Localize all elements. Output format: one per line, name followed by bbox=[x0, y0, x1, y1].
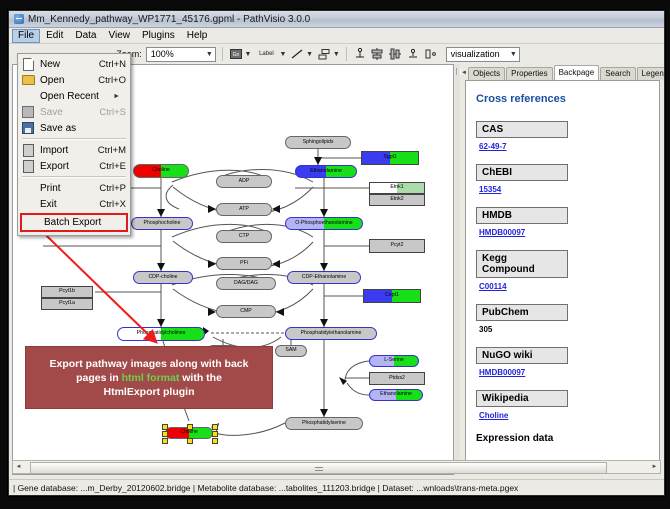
menu-separator bbox=[22, 176, 126, 178]
file-menu-popup[interactable]: NewCtrl+NOpenCtrl+OOpen Recent►SaveCtrl+… bbox=[17, 53, 131, 236]
app-icon bbox=[14, 14, 24, 24]
annotation-callout: Export pathway images along with back pa… bbox=[25, 346, 273, 409]
callout-line-1: Export pathway images along with back bbox=[50, 357, 249, 371]
callout-line-2-a: pages in bbox=[76, 372, 122, 384]
pathway-node-metabolite[interactable]: Phosphatidylserine bbox=[285, 417, 363, 430]
geneproduct-dropdown-icon[interactable]: ▼ bbox=[244, 51, 251, 58]
menu-item-label: Save bbox=[36, 107, 93, 118]
menu-item-accelerator: Ctrl+S bbox=[93, 107, 126, 118]
cross-reference-list: CAS62-49-7ChEBI15354HMDBHMDB00097Kegg Co… bbox=[476, 121, 649, 420]
shape-dropdown-icon[interactable]: ▼ bbox=[333, 51, 340, 58]
xref-source-hmdb: HMDB bbox=[476, 207, 568, 224]
menu-item-icon bbox=[20, 182, 36, 195]
status-text: | Gene database: ...m_Derby_20120602.bri… bbox=[13, 483, 518, 493]
chevron-right-icon: ► bbox=[113, 93, 120, 100]
selection-handle[interactable] bbox=[162, 424, 168, 430]
file-menu-item-import[interactable]: ImportCtrl+M bbox=[18, 142, 130, 158]
menu-bar: File Edit Data View Plugins Help bbox=[9, 28, 664, 44]
selection-handle[interactable] bbox=[212, 424, 218, 430]
shape-tool-icon[interactable] bbox=[317, 47, 331, 62]
label-tool[interactable]: Label bbox=[255, 47, 277, 62]
tab-search[interactable]: Search bbox=[600, 67, 635, 80]
menu-item-label: New bbox=[36, 59, 93, 70]
tab-objects[interactable]: Objects bbox=[468, 67, 505, 80]
menu-item-label: Batch Export bbox=[40, 217, 116, 228]
pathway-node-gene[interactable]: Pcyt2 bbox=[369, 239, 425, 253]
toolbar-separator-2 bbox=[346, 47, 347, 61]
menu-item-icon bbox=[20, 198, 36, 211]
new-file-icon bbox=[23, 58, 34, 71]
scroll-right-arrow-icon[interactable]: ► bbox=[649, 464, 660, 470]
menu-item-icon bbox=[20, 58, 36, 71]
zoom-value: 100% bbox=[151, 49, 174, 59]
scrollbar-track[interactable] bbox=[24, 462, 649, 472]
pathway-node-gene[interactable]: Etnk2 bbox=[369, 194, 425, 206]
visualization-value: visualization bbox=[451, 49, 500, 59]
tab-scroll-left-icon[interactable]: ◄ bbox=[461, 67, 467, 78]
file-menu-item-save: SaveCtrl+S bbox=[18, 104, 130, 120]
save-icon bbox=[22, 106, 34, 118]
horizontal-scrollbar[interactable]: ◄ ► bbox=[12, 460, 661, 474]
pathway-node-metabolite[interactable]: ADP bbox=[216, 175, 272, 188]
file-menu-item-batch-export[interactable]: Batch Export bbox=[20, 213, 128, 232]
pathway-node-metabolite[interactable]: CDP-Ethanolamine bbox=[287, 271, 361, 284]
group-glyph bbox=[425, 48, 437, 60]
xref-source-wikipedia: Wikipedia bbox=[476, 390, 568, 407]
pathway-node-metabolite[interactable]: O-Phosphoethanolamine bbox=[285, 217, 363, 230]
xref-value-pubchem: 305 bbox=[479, 325, 649, 334]
anchor-icon[interactable] bbox=[353, 47, 367, 62]
file-menu-item-open[interactable]: OpenCtrl+O bbox=[18, 72, 130, 88]
stack-glyph bbox=[407, 48, 419, 60]
menu-edit[interactable]: Edit bbox=[40, 29, 69, 43]
pathway-node-metabolite[interactable]: Ethanolamine bbox=[369, 389, 423, 401]
xref-link[interactable]: Choline bbox=[479, 411, 508, 420]
title-bar: Mm_Kennedy_pathway_WP1771_45176.gpml - P… bbox=[9, 11, 664, 28]
xref-value-hmdb[interactable]: HMDB00097 bbox=[479, 228, 649, 237]
menu-data[interactable]: Data bbox=[69, 29, 102, 43]
menu-item-label: Save as bbox=[36, 123, 120, 134]
selection-handle[interactable] bbox=[162, 438, 168, 444]
callout-line-3: HtmlExport plugin bbox=[104, 385, 195, 399]
file-menu-item-export[interactable]: ExportCtrl+E bbox=[18, 158, 130, 174]
toolbar-separator bbox=[222, 47, 223, 61]
pathway-node-gene[interactable]: Cept1 bbox=[363, 289, 421, 303]
pathway-node-metabolite[interactable]: L-Serine bbox=[369, 355, 419, 367]
align-horizontal-icon[interactable] bbox=[371, 47, 385, 62]
menu-item-icon bbox=[20, 144, 36, 157]
xref-value-cas[interactable]: 62-49-7 bbox=[479, 142, 649, 151]
expression-data-heading: Expression data bbox=[476, 433, 649, 444]
chevron-down-icon-visualization: ▼ bbox=[510, 51, 517, 58]
menu-view[interactable]: View bbox=[102, 29, 136, 43]
pathway-node-metabolite[interactable]: SAM bbox=[275, 345, 307, 357]
pathway-node-gene[interactable]: Sgpl1 bbox=[361, 151, 419, 165]
menu-item-accelerator: Ctrl+P bbox=[93, 183, 126, 194]
xref-source-cas: CAS bbox=[476, 121, 568, 138]
menu-help[interactable]: Help bbox=[181, 29, 214, 43]
menu-separator bbox=[22, 138, 126, 140]
menu-item-label: Open Recent bbox=[36, 91, 113, 102]
xref-value-chebi[interactable]: 15354 bbox=[479, 185, 649, 194]
menu-item-accelerator: Ctrl+O bbox=[92, 75, 126, 86]
xref-source-kegg-compound: Kegg Compound bbox=[476, 250, 568, 278]
file-menu-item-save-as[interactable]: Save as bbox=[18, 120, 130, 136]
pathway-node-metabolite[interactable]: PFi bbox=[216, 257, 272, 270]
menu-item-label: Open bbox=[36, 75, 92, 86]
menu-item-icon bbox=[20, 90, 36, 103]
callout-highlight: html format bbox=[122, 372, 180, 384]
menu-item-icon bbox=[24, 216, 40, 229]
pathway-node-metabolite[interactable]: Sphingolipids bbox=[285, 136, 351, 149]
callout-line-2-b: with the bbox=[179, 372, 222, 384]
status-bar: | Gene database: ...m_Derby_20120602.bri… bbox=[9, 479, 664, 495]
file-menu-item-print[interactable]: PrintCtrl+P bbox=[18, 180, 130, 196]
tab-backpage[interactable]: Backpage bbox=[554, 65, 600, 80]
visualization-combobox[interactable]: visualization ▼ bbox=[446, 47, 520, 62]
align-vertical-icon[interactable] bbox=[388, 47, 402, 62]
pathway-node-metabolite[interactable]: Phosphatidylethanolamine bbox=[285, 327, 377, 340]
import-icon bbox=[23, 144, 34, 157]
xref-value-kegg-compound[interactable]: C00114 bbox=[479, 282, 649, 291]
menu-plugins[interactable]: Plugins bbox=[136, 29, 181, 43]
file-menu-item-exit[interactable]: ExitCtrl+X bbox=[18, 196, 130, 212]
selection-handle[interactable] bbox=[212, 438, 218, 444]
screen: Mm_Kennedy_pathway_WP1771_45176.gpml - P… bbox=[0, 0, 670, 509]
pathway-node-metabolite[interactable]: DAG/DAG bbox=[216, 277, 276, 290]
side-panel-tabs: ◄ Objects Properties Backpage Search Leg… bbox=[461, 66, 661, 80]
pathway-node-metabolite[interactable]: Ethanolamine bbox=[295, 165, 357, 178]
file-menu-item-open-recent[interactable]: Open Recent► bbox=[18, 88, 130, 104]
pathway-node-metabolite[interactable]: ATP bbox=[216, 203, 272, 216]
pathway-node-metabolite[interactable]: CMP bbox=[216, 305, 276, 318]
menu-item-icon bbox=[20, 106, 36, 119]
geneproduct-tool-icon[interactable]: Gn bbox=[229, 47, 243, 62]
label-dropdown-icon[interactable]: ▼ bbox=[279, 51, 286, 58]
selection-handle[interactable] bbox=[187, 424, 193, 430]
align-h-glyph bbox=[371, 48, 383, 60]
pathway-node-gene[interactable]: Pcyt1a bbox=[41, 298, 93, 310]
zoom-combobox[interactable]: 100% ▼ bbox=[146, 47, 216, 62]
menu-item-icon bbox=[20, 160, 36, 173]
tab-properties[interactable]: Properties bbox=[506, 67, 552, 80]
backpage-panel[interactable]: Cross references CAS62-49-7ChEBI15354HMD… bbox=[465, 80, 660, 474]
line-glyph bbox=[291, 49, 303, 59]
scroll-left-arrow-icon[interactable]: ◄ bbox=[13, 464, 24, 470]
xref-source-pubchem: PubChem bbox=[476, 304, 568, 321]
tab-legend[interactable]: Legend bbox=[637, 67, 665, 80]
pathway-node-metabolite[interactable]: Choline bbox=[133, 164, 189, 178]
stack-icon[interactable] bbox=[406, 47, 420, 62]
open-folder-icon bbox=[22, 75, 35, 85]
menu-item-label: Print bbox=[36, 183, 93, 194]
pathway-node-gene[interactable]: Ptdss2 bbox=[369, 372, 425, 385]
xref-link[interactable]: 62-49-7 bbox=[479, 142, 507, 151]
menu-item-accelerator: Ctrl+N bbox=[93, 59, 126, 70]
selection-handle[interactable] bbox=[212, 431, 218, 437]
backpage-content: Cross references CAS62-49-7ChEBI15354HMD… bbox=[466, 81, 659, 448]
geneproduct-glyph: Gn bbox=[230, 49, 242, 59]
pathway-node-metabolite[interactable]: CTP bbox=[216, 230, 272, 243]
xref-link[interactable]: C00114 bbox=[479, 282, 507, 291]
menu-item-label: Import bbox=[36, 145, 92, 156]
menu-item-accelerator: Ctrl+X bbox=[93, 199, 126, 210]
align-v-glyph bbox=[389, 48, 401, 60]
save-as-icon bbox=[22, 122, 34, 134]
line-tool-icon[interactable] bbox=[290, 47, 304, 62]
menu-item-accelerator: Ctrl+E bbox=[93, 161, 126, 172]
xref-value-wikipedia[interactable]: Choline bbox=[479, 411, 649, 420]
file-menu-item-new[interactable]: NewCtrl+N bbox=[18, 56, 130, 72]
cross-references-heading: Cross references bbox=[476, 93, 649, 105]
pathway-node-metabolite[interactable]: CDP-choline bbox=[133, 271, 193, 284]
menu-item-label: Exit bbox=[36, 199, 93, 210]
xref-link[interactable]: 15354 bbox=[479, 185, 501, 194]
window-title: Mm_Kennedy_pathway_WP1771_45176.gpml - P… bbox=[28, 14, 310, 25]
selection-handle[interactable] bbox=[162, 431, 168, 437]
pathway-node-gene[interactable]: Pcyt1b bbox=[41, 286, 93, 298]
group-icon[interactable] bbox=[424, 47, 438, 62]
shape-glyph bbox=[318, 49, 330, 60]
chevron-down-icon: ▼ bbox=[206, 51, 213, 58]
side-panel: ◄ Objects Properties Backpage Search Leg… bbox=[461, 64, 661, 475]
xref-source-nugo-wiki: NuGO wiki bbox=[476, 347, 568, 364]
line-dropdown-icon[interactable]: ▼ bbox=[306, 51, 313, 58]
pane-splitter[interactable] bbox=[455, 64, 460, 475]
scrollbar-thumb[interactable] bbox=[30, 462, 607, 474]
selection-handle[interactable] bbox=[187, 438, 193, 444]
callout-line-2: pages in html format with the bbox=[76, 371, 222, 385]
anchor-glyph bbox=[354, 48, 366, 60]
xref-source-chebi: ChEBI bbox=[476, 164, 568, 181]
menu-item-icon bbox=[20, 74, 36, 87]
menu-item-accelerator: Ctrl+M bbox=[92, 145, 126, 156]
menu-item-label: Export bbox=[36, 161, 93, 172]
pathway-node-metabolite[interactable]: Phosphocholine bbox=[131, 217, 193, 230]
pathway-node-metabolite[interactable]: Phosphatidylcholines bbox=[117, 327, 205, 341]
pathvisio-window: Mm_Kennedy_pathway_WP1771_45176.gpml - P… bbox=[8, 10, 665, 496]
xref-value-nugo-wiki[interactable]: HMDB00097 bbox=[479, 368, 649, 377]
svg-text:Gn: Gn bbox=[232, 52, 239, 58]
xref-link[interactable]: HMDB00097 bbox=[479, 368, 525, 377]
pathway-node-gene[interactable]: Etnk1 bbox=[369, 182, 425, 194]
xref-link[interactable]: HMDB00097 bbox=[479, 228, 525, 237]
menu-file[interactable]: File bbox=[12, 29, 40, 43]
export-icon bbox=[23, 160, 34, 173]
menu-item-icon bbox=[20, 122, 36, 135]
